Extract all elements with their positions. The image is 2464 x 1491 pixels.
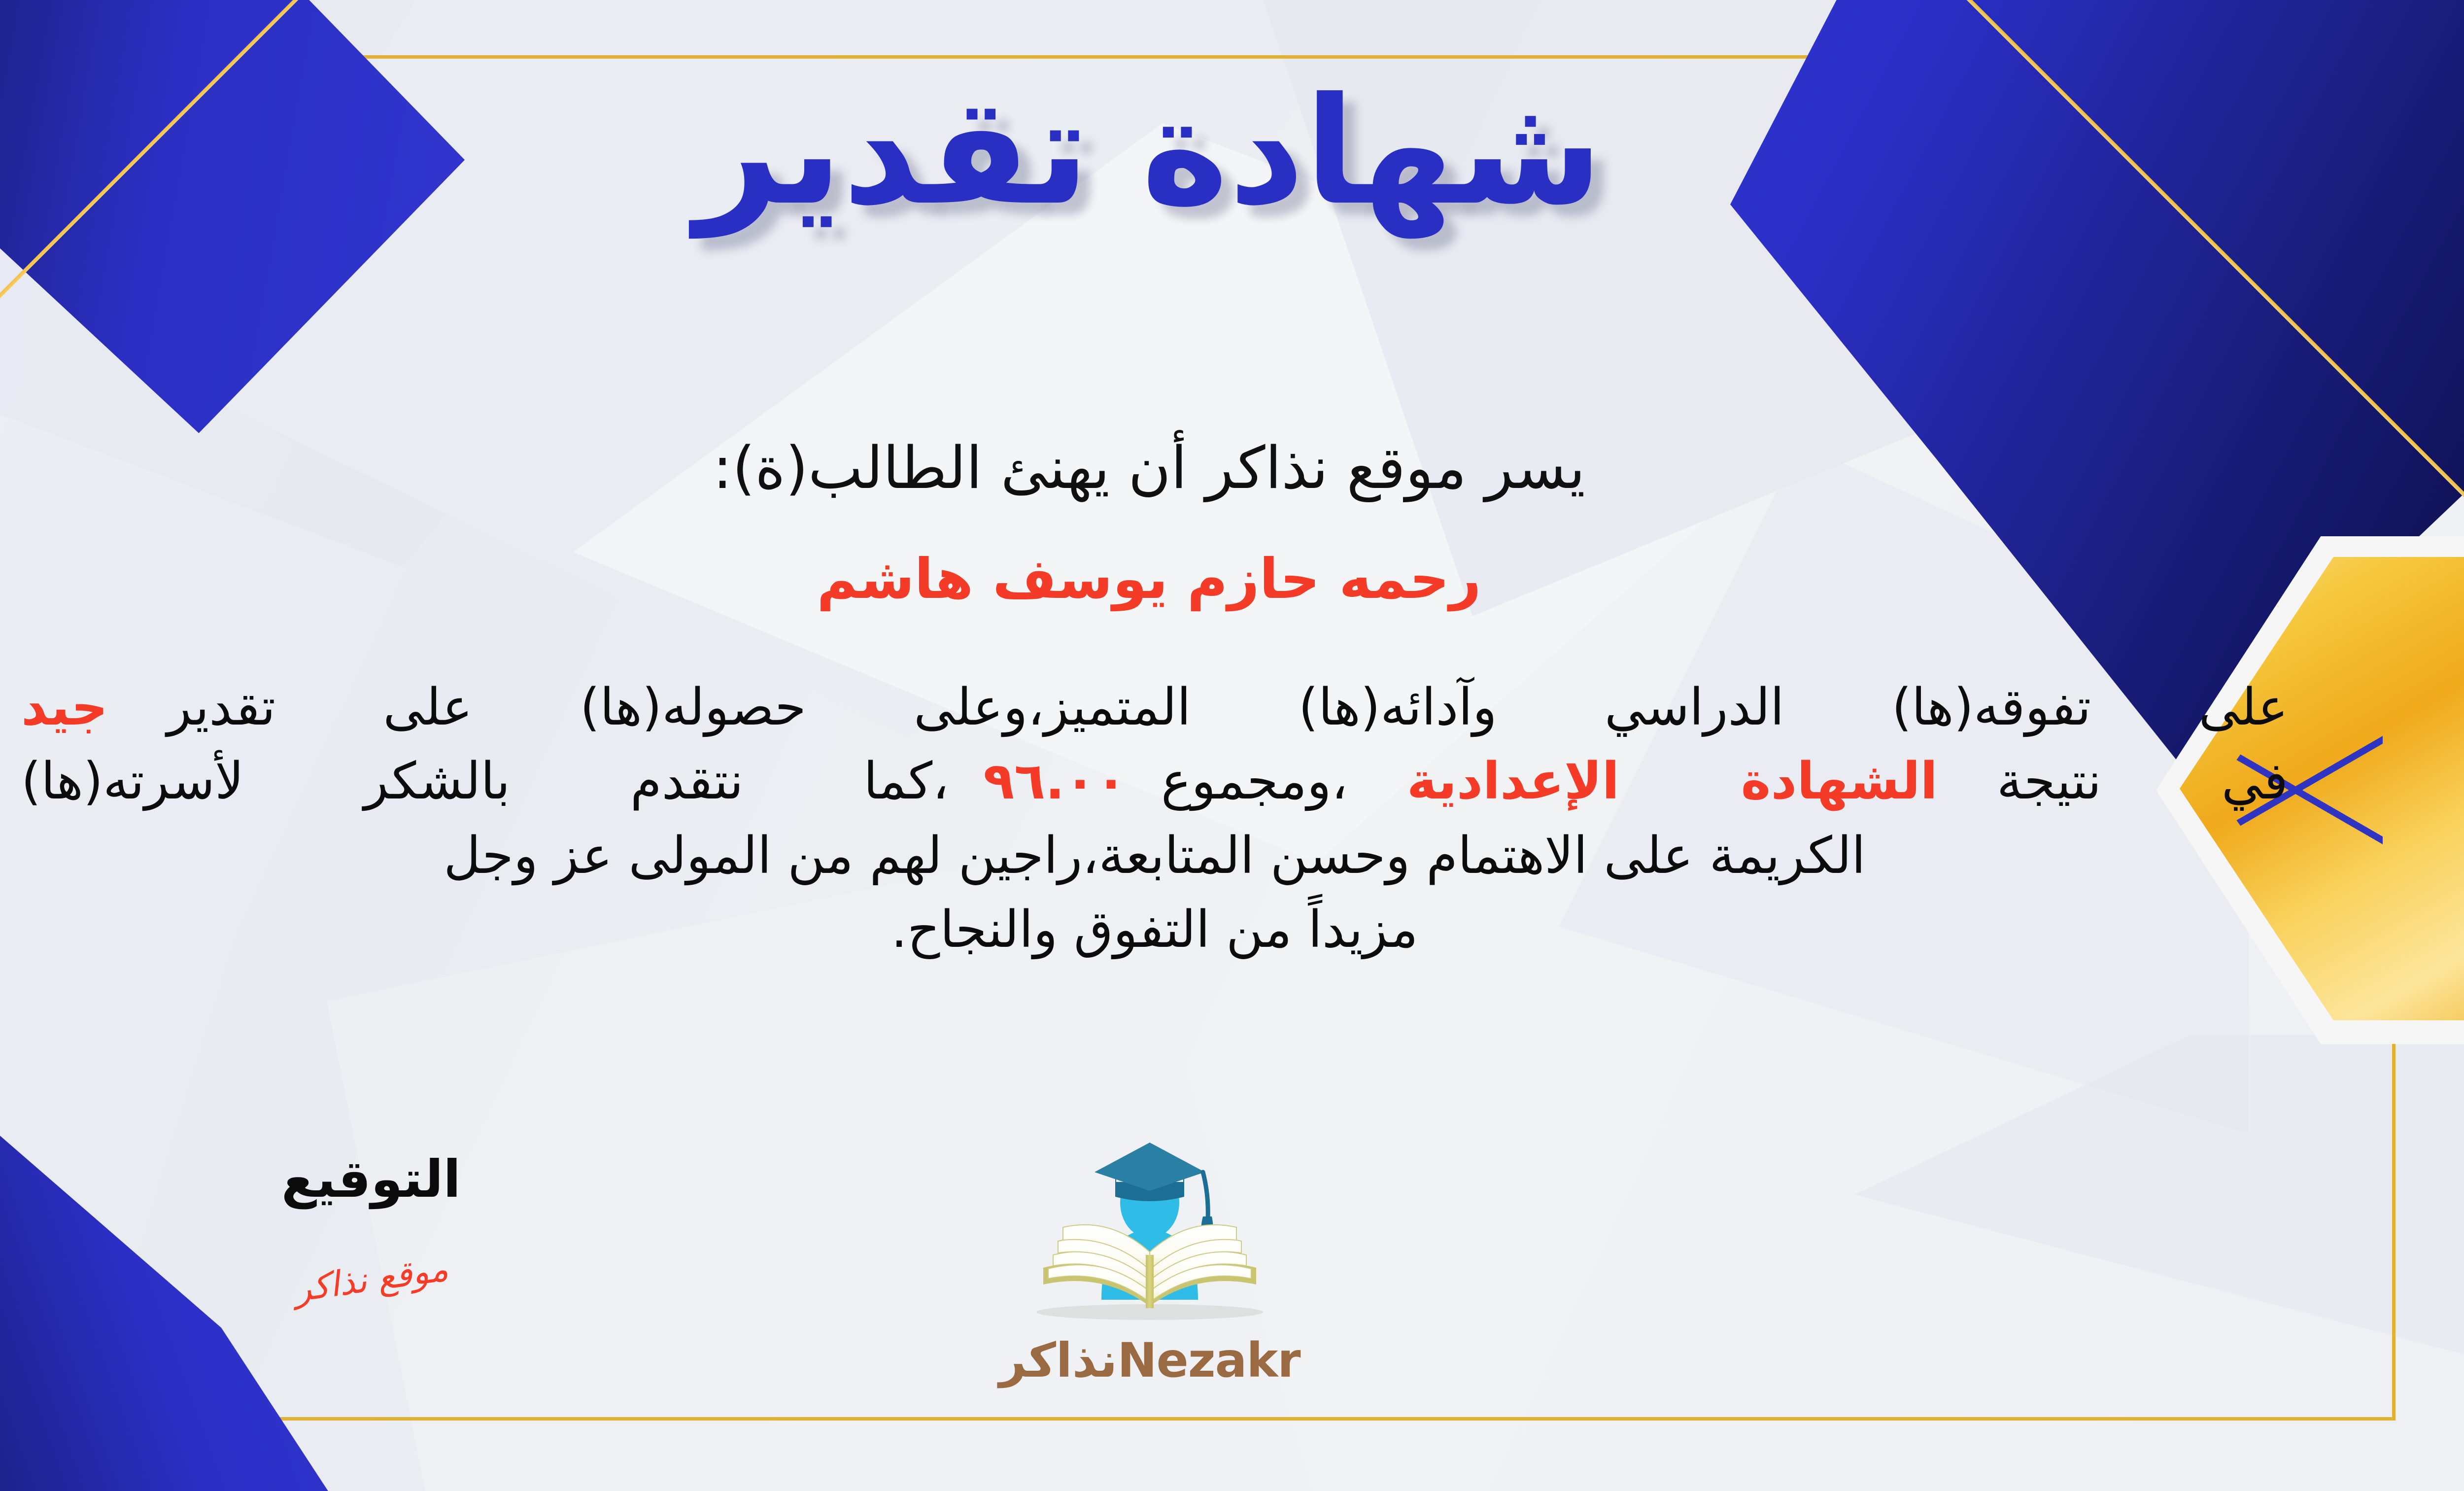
greeting-text: يسر موقع نذاكر أن يهنئ الطالب(ة): — [0, 434, 2464, 502]
logo-wordmark: Nezakrنذاكر — [967, 1333, 1332, 1388]
signature-label: التوقيع — [208, 1153, 534, 1205]
body-line-1-text: على تفوقه(ها) الدراسي وآدائه(ها) المتميز… — [167, 678, 2288, 737]
signature-script: موقع نذاكر — [207, 1236, 535, 1321]
body-line-2: في نتيجةالشهادة الإعدادية،ومجموع٩٦.٠٠،كم… — [21, 744, 2288, 818]
certificate-body: على تفوقه(ها) الدراسي وآدائه(ها) المتميز… — [21, 670, 2288, 967]
graduate-book-logo-icon — [967, 1129, 1332, 1331]
logo-name-ar: نذاكر — [999, 1333, 1117, 1388]
thanks-text: ،كما نتقدم بالشكر لأسرته(ها) — [21, 752, 949, 811]
body-line-4: مزيداً من التفوق والنجاح. — [21, 893, 2288, 967]
certificate-title: شهادة تقدير — [0, 59, 2464, 244]
body-line-3: الكريمة على الاهتمام وحسن المتابعة،راجين… — [21, 819, 2288, 893]
total-score-value: ٩٦.٠٠ — [983, 752, 1127, 811]
grade-value: جيد — [21, 678, 108, 737]
student-name: رحمه حازم يوسف هاشم — [0, 547, 2464, 611]
site-logo: Nezakrنذاكر — [967, 1129, 1332, 1415]
result-prefix-text: في نتيجة — [1997, 752, 2288, 811]
exam-name-value: الشهادة الإعدادية — [1407, 752, 1938, 811]
signature-block: التوقيع موقع نذاكر — [208, 1153, 534, 1299]
certificate-canvas: شهادة تقدير يسر موقع نذاكر أن يهنئ الطال… — [0, 0, 2464, 1491]
total-label-text: ،ومجموع — [1161, 752, 1348, 811]
body-line-1: على تفوقه(ها) الدراسي وآدائه(ها) المتميز… — [21, 670, 2288, 744]
logo-name-en: Nezakr — [1117, 1333, 1300, 1388]
